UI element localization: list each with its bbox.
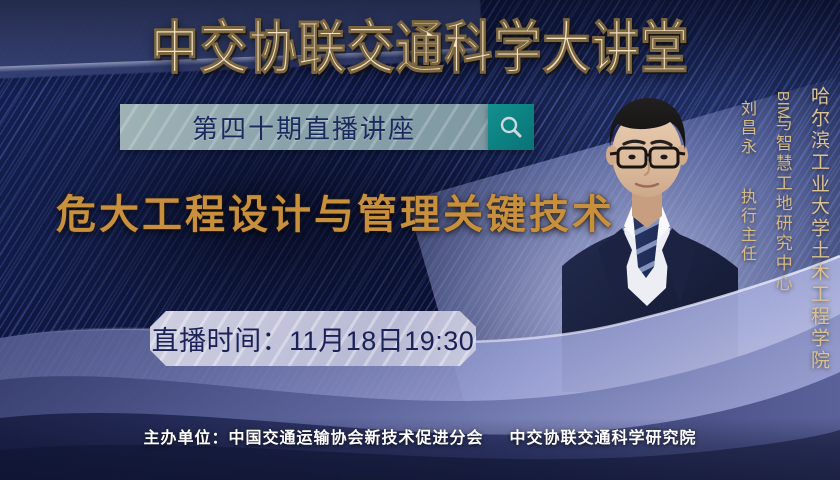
eye-right [660,155,667,160]
speaker-role: 执行主任 [734,188,758,264]
bim-acronym: BIM [773,91,791,119]
footer-host-1: 中国交通运输协会新技术促进分会 [228,430,483,447]
eye-left [628,155,635,160]
speaker-organization: 哈尔滨工业大学土木工程学院 [805,86,832,372]
research-center-suffix: 与智慧工地研究中心 [773,114,792,294]
footer-hosts: 主办单位：中国交通运输协会新技术促进分会中交协联交通科学研究院 [0,424,840,448]
lecture-title: 危大工程设计与管理关键技术 [56,190,615,240]
broadcast-time-label: 直播时间：11月18日19:30 [152,319,475,358]
speaker-research-center: BIM与智慧工地研究中心 [768,96,796,294]
episode-label: 第四十期直播讲座 [192,109,416,146]
episode-banner: 第四十期直播讲座 [120,104,488,150]
live-event-poster: 中交协联交通科学大讲堂 第四十期直播讲座 危大工程设计与管理关键技术 直播时间：… [0,0,840,480]
footer-host-2: 中交协联交通科学研究院 [510,430,697,447]
speaker-name: 刘昌永 [734,100,758,157]
search-icon [498,114,524,140]
page-title: 中交协联交通科学大讲堂 [17,14,823,82]
footer-host-label: 主办单位： [143,430,228,447]
broadcast-time-badge: 直播时间：11月18日19:30 [150,311,476,366]
search-button[interactable] [488,104,534,150]
